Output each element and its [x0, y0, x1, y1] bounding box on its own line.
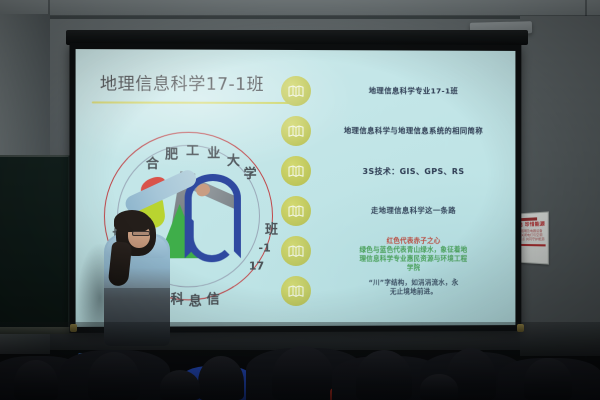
emblem-arc-top-3: 工 [186, 140, 199, 159]
classroom-photo: MITSUBISHI 合肥工业大学 节约用电 珍惜能源 请随手关闭照明及电器设备… [0, 0, 600, 400]
open-book-icon [281, 76, 311, 106]
audience-head [14, 360, 58, 400]
bullet-row-2: 地理信息科学与地理信息系统的相同简称 [281, 116, 504, 156]
emblem-arc-top-4: 业 [207, 142, 220, 161]
wall-right [520, 16, 600, 356]
bullet-row-1: 地理信息科学专业17-1班 [281, 76, 504, 117]
open-book-icon [281, 116, 311, 146]
emblem-arc-right: 班 [265, 219, 278, 238]
bullet-row-4: 走地理信息科学这一条路 [281, 196, 504, 236]
bullet-text-5: 红色代表赤子之心 绿色与蓝色代表青山绿水，象征着地 理信息科学专业惠民资源与环境… [325, 236, 502, 273]
bullet-text-1: 地理信息科学专业17-1班 [325, 76, 502, 95]
ceiling-trim [0, 0, 600, 16]
emblem-arc-top-5: 大 [227, 150, 240, 169]
emblem-arc-year: 17 [249, 260, 264, 273]
bullet-text-2: 地理信息科学与地理信息系统的相同简称 [325, 116, 502, 135]
audience-head [420, 374, 458, 400]
open-book-icon [281, 236, 311, 266]
open-book-icon [281, 196, 311, 226]
presenter-hair [114, 210, 150, 232]
bullet-text-3: 3S技术：GIS、GPS、RS [325, 156, 502, 176]
bullet-row-6: “川”字结构，如涓涓流水，永 无止境地前进。 [281, 275, 504, 316]
emblem-arc-top-6: 学 [244, 163, 257, 182]
bullet-row-5: 红色代表赤子之心 绿色与蓝色代表青山绿水，象征着地 理信息科学专业惠民资源与环境… [281, 236, 504, 276]
audience [0, 322, 600, 400]
bullet-list: 地理信息科学专业17-1班 地理信息科学与地理信息系统的相同简称 [281, 76, 504, 316]
audience-head [198, 356, 244, 400]
open-book-icon [281, 156, 311, 186]
open-book-icon [281, 276, 311, 306]
ceiling-seam [0, 16, 600, 19]
bullet-row-3: 3S技术：GIS、GPS、RS [281, 156, 504, 196]
bullet-text-4: 走地理信息科学这一条路 [325, 196, 502, 215]
emblem-arc-right-small: -1 [259, 241, 271, 254]
audience-head [524, 358, 572, 400]
emblem-arc-top-2: 肥 [165, 144, 178, 163]
audience-head [160, 370, 200, 400]
blackboard [0, 155, 70, 330]
slide-title: 地理信息科学17-1班 [100, 69, 264, 95]
bullet-text-6: “川”字结构，如涓涓流水，永 无止境地前进。 [325, 275, 502, 296]
glasses-icon [132, 231, 150, 236]
title-underline [92, 101, 289, 104]
